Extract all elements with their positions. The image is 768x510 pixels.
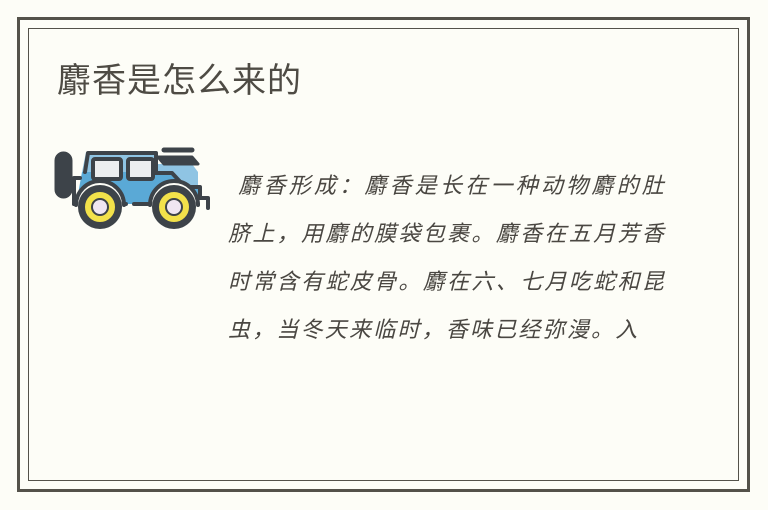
jeep-icon [52, 142, 214, 234]
rear-wheel [78, 185, 122, 229]
jeep-illustration [52, 142, 214, 234]
page-title: 麝香是怎么来的 [57, 58, 302, 104]
front-wheel [152, 185, 196, 229]
article-body-text: 麝香形成：麝香是长在一种动物麝的肚脐上，用麝的膜袋包裹。麝香在五月芳香时常含有蛇… [228, 163, 666, 355]
article-card: 麝香是怎么来的 [0, 0, 768, 510]
